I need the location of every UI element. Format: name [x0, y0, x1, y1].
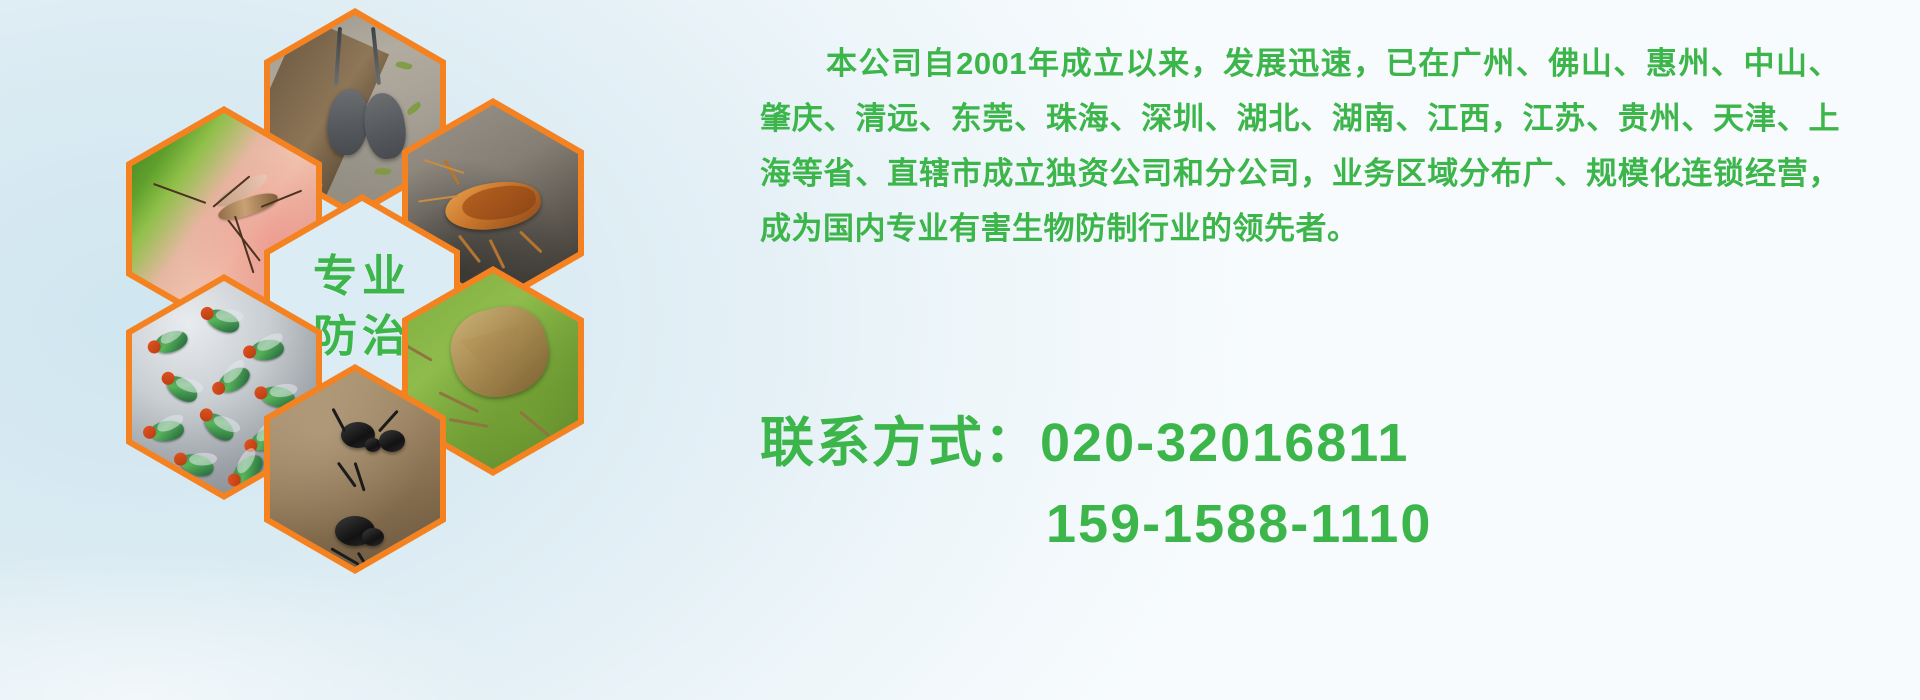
- contact-primary-line[interactable]: 联系方式：020-32016811: [760, 398, 1880, 477]
- slogan-line-2: 防治: [313, 307, 411, 367]
- honeycomb-cluster: 专业 防治: [96, 0, 656, 694]
- slogan-text: 专业 防治: [313, 247, 411, 367]
- ant-photo: [270, 371, 440, 567]
- hex-inner-ant: [270, 371, 440, 567]
- contact-block: 联系方式：020-32016811 159-1588-1110: [760, 398, 1880, 555]
- company-description-paragraph: 本公司自2001年成立以来，发展迅速，已在广州、佛山、惠州、中山、肇庆、清远、东…: [760, 36, 1840, 256]
- pest-control-banner: 专业 防治: [0, 0, 1920, 700]
- slogan-line-1: 专业: [313, 247, 411, 307]
- contact-secondary-line[interactable]: 159-1588-1110: [760, 493, 1880, 555]
- company-description-block: 本公司自2001年成立以来，发展迅速，已在广州、佛山、惠州、中山、肇庆、清远、东…: [760, 36, 1840, 256]
